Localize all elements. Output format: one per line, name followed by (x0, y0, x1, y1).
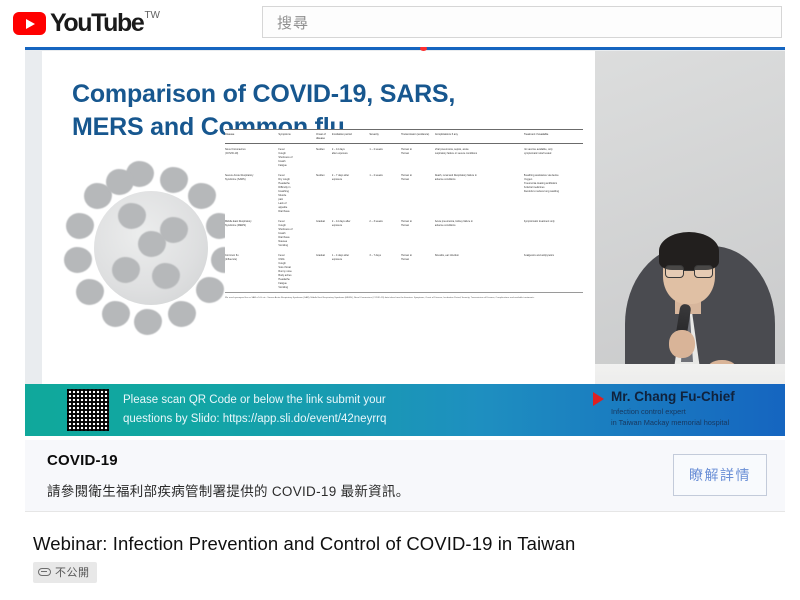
slido-banner-text: Please scan QR Code or below the link su… (123, 391, 386, 428)
table-header-cell: Transmission (evidence) (401, 133, 435, 141)
covid-info-description: 請參閱衛生福利部疾病管制署提供的 COVID-19 最新資訊。 (47, 480, 410, 500)
slido-banner: Please scan QR Code or below the link su… (25, 384, 785, 436)
table-header-cell: Treatment if available (524, 133, 583, 141)
table-row: Common flu (Influenza) Fever Chills Coug… (225, 250, 583, 292)
video-meta: Webinar: Infection Prevention and Contro… (25, 520, 785, 583)
table-cell: 1 – 2 weeks (369, 148, 401, 168)
table-cell: 2 – 14 days after exposure (332, 220, 370, 248)
table-row: Middle East Respiratory Syndrome (MERS) … (225, 216, 583, 250)
speaker-role: Infection control expert in Taiwan Macka… (611, 406, 735, 428)
table-cell: Viral pneumonia, sepsis, acute respirato… (435, 148, 524, 168)
glasses-icon (665, 265, 713, 278)
visibility-label: 不公開 (55, 564, 90, 580)
table-cell: Human to Human (401, 148, 435, 168)
comparison-table: Disease Symptoms Onset of disease Incuba… (225, 129, 583, 397)
search-input[interactable]: 搜尋 (262, 6, 782, 38)
table-cell: Fever Dry cough Headache Difficulty in b… (278, 174, 316, 214)
table-cell: 2 – 3 weeks (369, 220, 401, 248)
table-header-row: Disease Symptoms Onset of disease Incuba… (225, 130, 583, 143)
coronavirus-illustration (64, 161, 239, 336)
table-cell: Breathing assistance via device Oxygen P… (524, 174, 583, 214)
video-progress-played (25, 47, 420, 50)
table-cell: Death, renal and Respiratory failure in … (435, 174, 524, 214)
table-header-cell: Disease (225, 133, 278, 141)
speaker-name: Mr. Chang Fu-Chief (611, 389, 735, 404)
qr-code (67, 389, 109, 431)
search-placeholder: 搜尋 (277, 12, 309, 33)
speaker-video-feed: medi (595, 51, 785, 436)
table-cell: Sudden (316, 174, 332, 214)
table-cell: Human to Human (401, 220, 435, 248)
video-progress-bar[interactable] (25, 47, 785, 50)
table-row: Novel Coronavirus (COVID-19) Fever Cough… (225, 144, 583, 170)
table-cell: 3 – 7 days (369, 254, 401, 290)
table-cell: No vaccine available, only symptomatic r… (524, 148, 583, 168)
table-header-cell: Onset of disease (316, 133, 332, 141)
table-cell: 2 – 7 days after exposure (332, 174, 370, 214)
youtube-play-icon (13, 12, 46, 35)
visibility-badge-row: 不公開 (25, 556, 785, 583)
video-player[interactable]: Comparison of COVID-19, SARS, MERS and C… (25, 47, 785, 436)
youtube-wordmark: YouTube (50, 12, 143, 35)
table-cell: Sinusitis, ear infection (435, 254, 524, 290)
table-header-cell: Complications if any (435, 133, 524, 141)
covid-info-panel: COVID-19 請參閱衛生福利部疾病管制署提供的 COVID-19 最新資訊。… (25, 440, 785, 512)
covid-info-title: COVID-19 (47, 452, 118, 469)
youtube-country-suffix: TW (144, 10, 160, 21)
table-cell: Novel Coronavirus (COVID-19) (225, 148, 278, 168)
table-header-cell: Incubation period (332, 133, 370, 141)
table-cell: 1 – 4 days after exposure (332, 254, 370, 290)
youtube-logo[interactable]: YouTube TW (13, 12, 160, 35)
play-triangle-icon (593, 392, 604, 406)
table-cell: Fever Cough Shortness of breath Fatigue (278, 148, 316, 168)
learn-more-button[interactable]: 瞭解詳情 (673, 454, 767, 496)
table-cell: Severe Acute Respiratory Syndrome (SARS) (225, 174, 278, 214)
table-cell: Acute pneumonia, kidney failure in adver… (435, 220, 524, 248)
table-cell: Middle East Respiratory Syndrome (MERS) (225, 220, 278, 248)
youtube-header: YouTube TW 搜尋 (0, 0, 800, 47)
table-cell: Sudden (316, 148, 332, 168)
table-cell: Human to Human (401, 174, 435, 214)
table-header-cell: Symptoms (278, 133, 316, 141)
table-cell: Symptomatic treatment only (524, 220, 583, 248)
table-header-cell: Severity (369, 133, 401, 141)
link-icon (38, 568, 51, 576)
table-cell: Common flu (Influenza) (225, 254, 278, 290)
table-cell: Gradual (316, 254, 332, 290)
table-cell: Human to Human (401, 254, 435, 290)
table-cell: Fever Cough Shortness of breath Diarrhoe… (278, 220, 316, 248)
presentation-slide: Comparison of COVID-19, SARS, MERS and C… (42, 51, 595, 436)
table-cell: Fever Chills Cough Sore throat Runny nos… (278, 254, 316, 290)
table-cell: 2 – 14 days after exposure (332, 148, 370, 168)
status-badge: 不公開 (33, 562, 97, 583)
table-cell: Analgesics and antipyretics (524, 254, 583, 290)
speaker-nameplate: Mr. Chang Fu-Chief Infection control exp… (585, 387, 781, 433)
table-row: Severe Acute Respiratory Syndrome (SARS)… (225, 170, 583, 216)
table-cell: 1 – 2 weeks (369, 174, 401, 214)
table-footnote: We used synonyms like as SAR nCoV etc.: … (225, 297, 583, 301)
video-title: Webinar: Infection Prevention and Contro… (25, 520, 785, 556)
table-cell: Gradual (316, 220, 332, 248)
